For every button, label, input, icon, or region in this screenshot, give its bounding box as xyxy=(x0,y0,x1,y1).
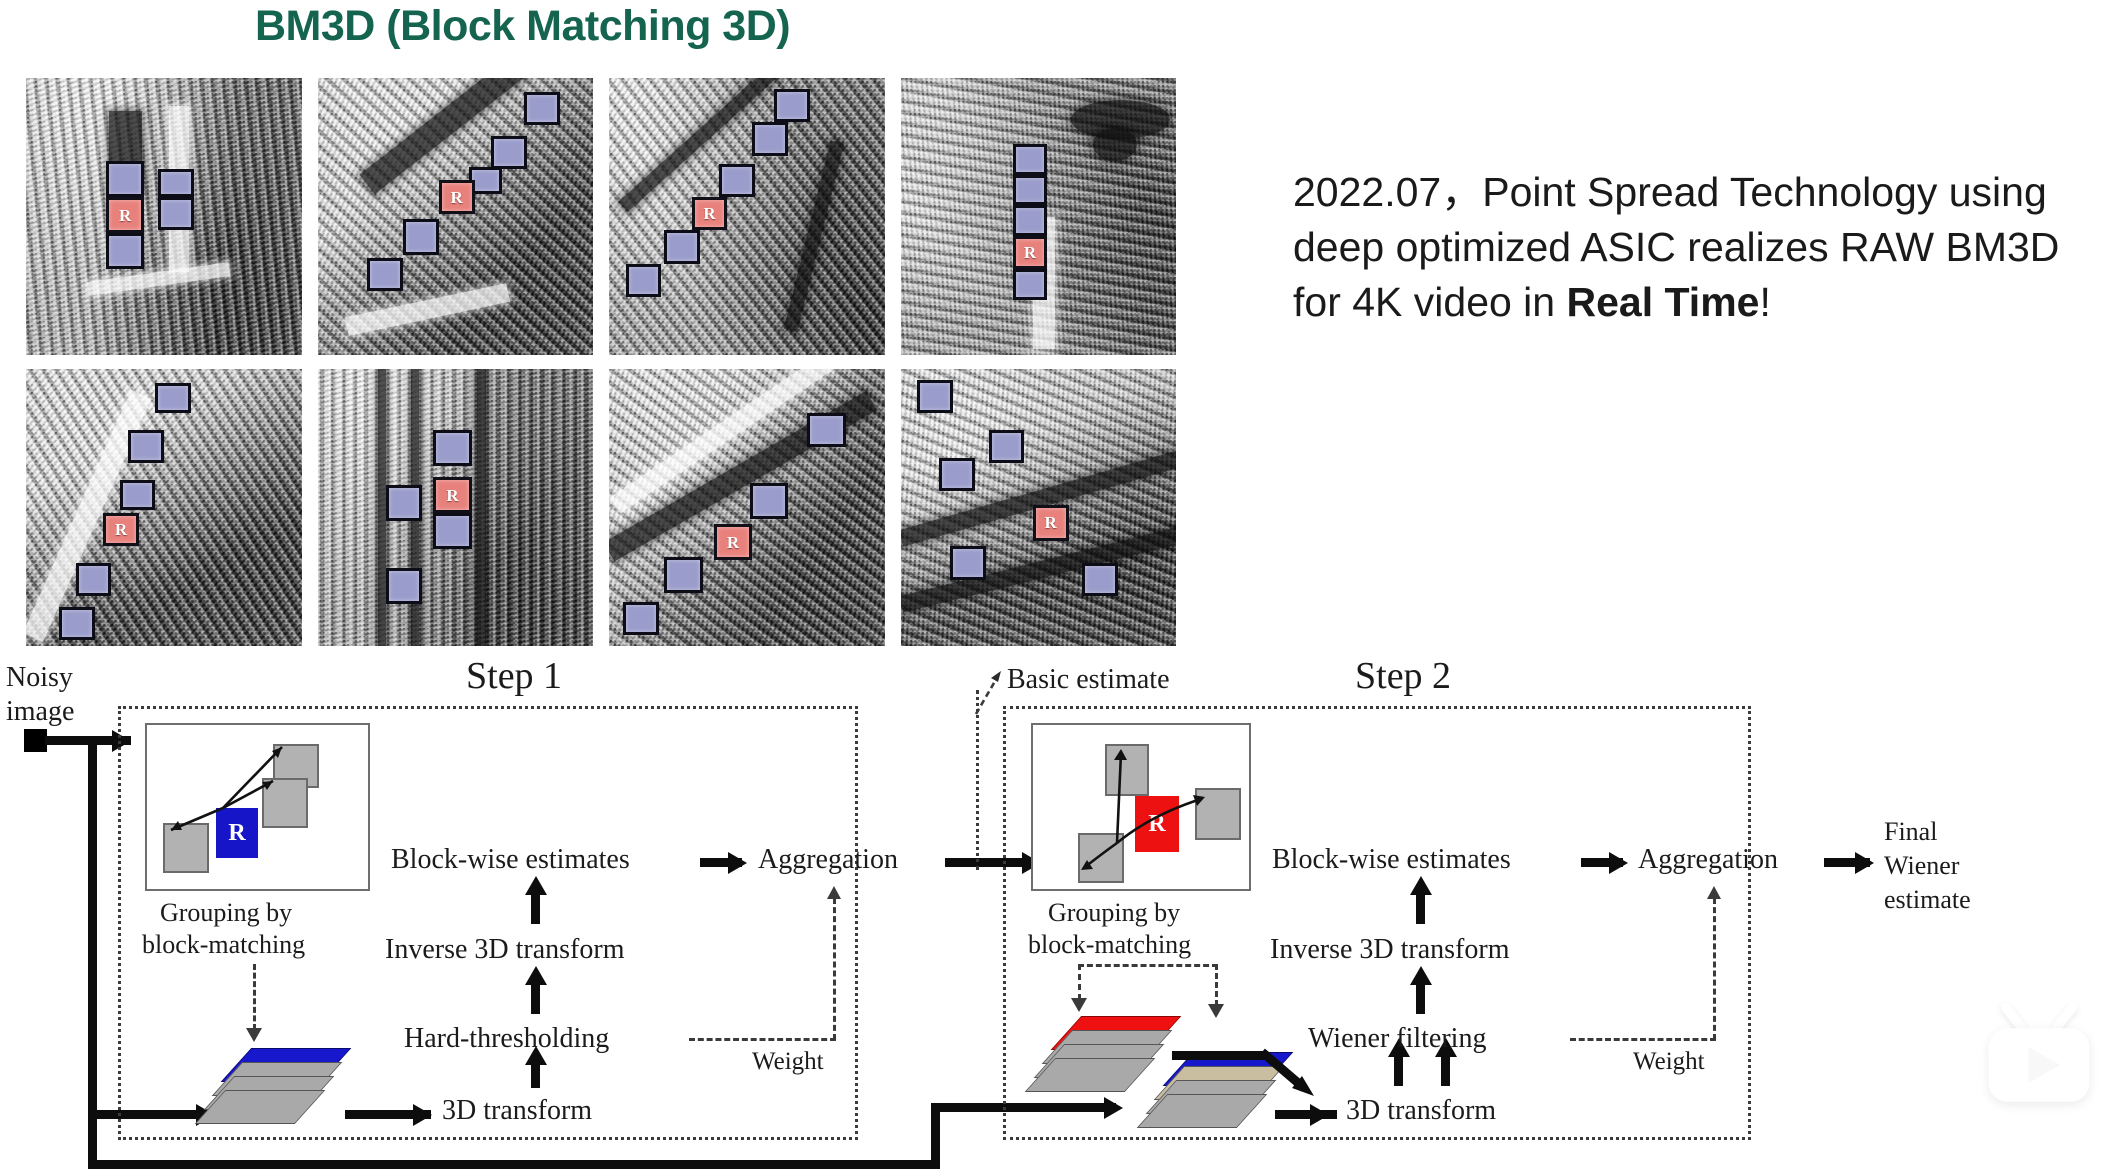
step2-aggregation-label: Aggregation xyxy=(1638,844,1778,876)
match-block xyxy=(155,383,191,413)
weight-dashed-line xyxy=(1713,898,1716,1040)
reference-block: R xyxy=(1013,236,1046,269)
flow-line-vertical xyxy=(1394,1054,1403,1086)
arrow-down-dashed xyxy=(1208,1004,1224,1018)
arrow-right xyxy=(728,852,747,874)
step2-grouping-label-2: block-matching xyxy=(1028,930,1191,960)
flow-line-vertical xyxy=(931,1103,940,1169)
caption-date: 2022.07， xyxy=(1293,169,1482,215)
image-edge-dark xyxy=(477,369,485,646)
patch-hat-texture: R xyxy=(26,369,302,646)
step1-3d-transform-label: 3D transform xyxy=(442,1095,592,1127)
arrow-up-dashed xyxy=(1707,886,1721,899)
reference-block-label: R xyxy=(115,521,127,538)
flow-line-vertical xyxy=(1441,1054,1450,1086)
patch-diagonal-edge: R xyxy=(318,78,594,355)
match-block xyxy=(1013,205,1046,235)
match-block xyxy=(106,233,145,269)
match-block xyxy=(524,92,560,125)
step2-3d-transform-label: 3D transform xyxy=(1346,1095,1496,1127)
step2-noisy-stack xyxy=(1152,1052,1272,1136)
step1-inverse-3d-label: Inverse 3D transform xyxy=(385,934,624,966)
step2-title: Step 2 xyxy=(1355,654,1451,698)
step2-block-wise-estimates-label: Block-wise estimates xyxy=(1272,844,1511,876)
reference-block-label: R xyxy=(1045,514,1057,531)
reference-block-label: R xyxy=(450,189,462,206)
dashed-connector xyxy=(253,964,256,1030)
noisy-image-label-2: image xyxy=(6,696,74,728)
match-block xyxy=(623,602,659,635)
reference-block: R xyxy=(106,197,145,233)
caption-text: 2022.07，Point Spread Technology using de… xyxy=(1293,165,2083,330)
match-block xyxy=(158,197,194,230)
arrow-down-dashed xyxy=(1071,998,1087,1012)
dashed-connector xyxy=(1078,964,1218,967)
caption-emphasis: Real Time xyxy=(1567,279,1760,325)
arrow-right xyxy=(1609,852,1628,874)
step2-weight-label: Weight xyxy=(1633,1048,1705,1076)
reference-block-label: R xyxy=(446,487,458,504)
match-block xyxy=(664,230,700,263)
patch-fence-weave: R xyxy=(901,369,1177,646)
match-block xyxy=(386,485,422,521)
patch-boat-mast: R xyxy=(26,78,302,355)
image-edge-dark xyxy=(378,369,386,646)
input-node-square xyxy=(24,729,47,752)
reference-block: R xyxy=(439,180,475,213)
flow-line-vertical xyxy=(531,892,540,924)
step1-block-wise-estimates-label: Block-wise estimates xyxy=(391,844,630,876)
flow-line-vertical xyxy=(531,982,540,1014)
match-block xyxy=(939,458,975,491)
step1-hard-thresholding-label: Hard-thresholding xyxy=(404,1023,609,1055)
grouping-arrows xyxy=(145,723,370,891)
arrow-up-dashed xyxy=(827,886,841,899)
final-estimate-label-2: Wiener xyxy=(1884,851,1959,881)
patch-vertical-bars: R xyxy=(318,369,594,646)
flow-line xyxy=(88,1160,940,1169)
match-block xyxy=(950,546,986,579)
flow-line-vertical xyxy=(1416,892,1425,924)
reference-block: R xyxy=(103,513,139,546)
match-block xyxy=(367,258,403,291)
match-block xyxy=(807,413,846,446)
arrow-right xyxy=(413,1104,432,1126)
match-block xyxy=(158,169,194,197)
step2-basic-stack xyxy=(1040,1016,1160,1100)
weight-dashed-line xyxy=(1570,1038,1716,1041)
step1-weight-label: Weight xyxy=(752,1048,824,1076)
noisy-image-label-1: Noisy xyxy=(6,662,73,694)
match-block xyxy=(917,380,953,413)
noise-grain xyxy=(609,78,885,355)
arrow-right xyxy=(1855,852,1874,874)
step1-group-stack xyxy=(210,1048,330,1132)
match-block xyxy=(750,483,789,519)
weight-dashed-line xyxy=(689,1038,836,1041)
bilibili-tv-play-logo-icon xyxy=(1976,1001,2102,1127)
dashed-connector xyxy=(1078,964,1081,1000)
reference-block-label: R xyxy=(727,534,739,551)
match-block xyxy=(774,89,810,122)
patch-grid: R R R R xyxy=(26,78,1176,646)
patch-rail-diagonal: R xyxy=(609,369,885,646)
match-block xyxy=(433,430,472,466)
caption-suffix: ! xyxy=(1759,279,1770,325)
match-block xyxy=(76,563,112,596)
step1-grouping-label-2: block-matching xyxy=(142,930,305,960)
reference-block-label: R xyxy=(1024,244,1036,261)
match-block xyxy=(1013,144,1046,174)
flow-line-vertical xyxy=(531,1062,540,1088)
flow-line-vertical xyxy=(1416,982,1425,1014)
arrow-right xyxy=(1310,1104,1329,1126)
reference-block: R xyxy=(1033,505,1069,541)
patch-cable-line: R xyxy=(609,78,885,355)
step1-title: Step 1 xyxy=(466,654,562,698)
reference-block-label: R xyxy=(119,207,131,224)
step1-aggregation-label: Aggregation xyxy=(758,844,898,876)
step2-wiener-filtering-label: Wiener filtering xyxy=(1308,1023,1486,1055)
match-block xyxy=(664,557,703,593)
final-estimate-label-1: Final xyxy=(1884,817,1937,847)
match-block xyxy=(120,480,156,510)
basic-estimate-label: Basic estimate xyxy=(1007,664,1170,696)
match-block xyxy=(491,136,527,169)
match-block xyxy=(106,161,145,197)
reference-block: R xyxy=(714,524,753,560)
patch-lena-eye: R xyxy=(901,78,1177,355)
match-block xyxy=(989,430,1025,463)
reference-block: R xyxy=(433,477,472,513)
match-block xyxy=(1013,269,1046,299)
final-estimate-label-3: estimate xyxy=(1884,885,1971,915)
match-block xyxy=(128,430,164,463)
bm3d-flow-diagram: Step 1 Step 2 Basic estimate Noisy image… xyxy=(0,648,2108,1129)
reference-block-label: R xyxy=(703,205,715,222)
match-block xyxy=(1013,175,1046,205)
step1-grouping-label-1: Grouping by xyxy=(160,898,292,928)
match-block xyxy=(403,219,439,255)
reference-block: R xyxy=(692,197,728,230)
match-block xyxy=(626,264,662,297)
match-block xyxy=(433,513,472,549)
grouping-arrows xyxy=(1031,723,1251,891)
match-block xyxy=(386,568,422,604)
page-title: BM3D (Block Matching 3D) xyxy=(255,2,955,51)
flow-line xyxy=(1172,1051,1268,1060)
match-block xyxy=(752,122,788,155)
step2-inverse-3d-label: Inverse 3D transform xyxy=(1270,934,1509,966)
match-block xyxy=(719,164,755,197)
weight-dashed-line xyxy=(833,898,836,1040)
dashed-connector xyxy=(1215,964,1218,1006)
flow-line-vertical xyxy=(88,736,97,1077)
match-block xyxy=(59,607,95,640)
match-block xyxy=(1082,563,1118,596)
arrow-down-dashed xyxy=(246,1028,262,1042)
step2-grouping-label-1: Grouping by xyxy=(1048,898,1180,928)
